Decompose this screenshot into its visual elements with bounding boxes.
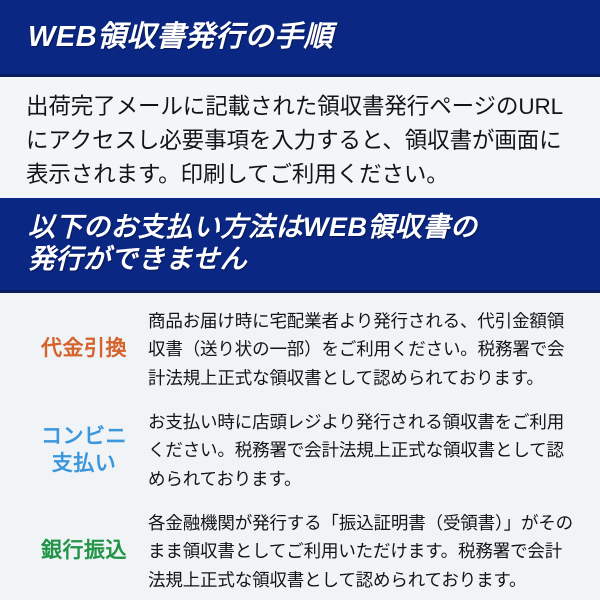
payment-methods-list: 代金引換 商品お届け時に宅配業者より発行される、代引金額領収書（送り状の一部）を…: [0, 293, 600, 594]
payment-method-row-cash-on-delivery: 代金引換 商品お届け時に宅配業者より発行される、代引金額領収書（送り状の一部）を…: [20, 307, 580, 392]
secondary-banner: 以下のお支払い方法はWEB領収書の 発行ができません: [0, 198, 600, 293]
primary-banner: WEB領収書発行の手順: [0, 0, 600, 77]
unavailable-methods-heading: 以下のお支払い方法はWEB領収書の 発行ができません: [28, 212, 478, 276]
payment-method-row-bank-transfer: 銀行振込 各金融機関が発行する「振込証明書（受領書）」がそのまま領収書としてご利…: [20, 509, 580, 594]
payment-method-row-convenience-store: コンビニ 支払い お支払い時に店頭レジより発行される領収書をご利用ください。税務…: [20, 408, 580, 493]
intro-section: 出荷完了メールに記載された領収書発行ページのURLにアクセスし必要事項を入力する…: [0, 77, 600, 198]
payment-method-label-bank-transfer: 銀行振込: [20, 538, 148, 564]
intro-paragraph: 出荷完了メールに記載された領収書発行ページのURLにアクセスし必要事項を入力する…: [26, 90, 574, 191]
receipt-info-page: WEB領収書発行の手順 出荷完了メールに記載された領収書発行ページのURLにアク…: [0, 0, 600, 600]
payment-method-description-bank-transfer: 各金融機関が発行する「振込証明書（受領書）」がそのまま領収書としてご利用いただけ…: [148, 509, 580, 594]
payment-method-label-convenience-store: コンビニ 支払い: [20, 424, 148, 477]
payment-method-description-convenience-store: お支払い時に店頭レジより発行される領収書をご利用ください。税務署で会計法規上正式…: [148, 408, 580, 493]
page-title: WEB領収書発行の手順: [28, 20, 333, 54]
payment-method-label-cash-on-delivery: 代金引換: [20, 336, 148, 362]
payment-method-description-cash-on-delivery: 商品お届け時に宅配業者より発行される、代引金額領収書（送り状の一部）をご利用くだ…: [148, 307, 580, 392]
